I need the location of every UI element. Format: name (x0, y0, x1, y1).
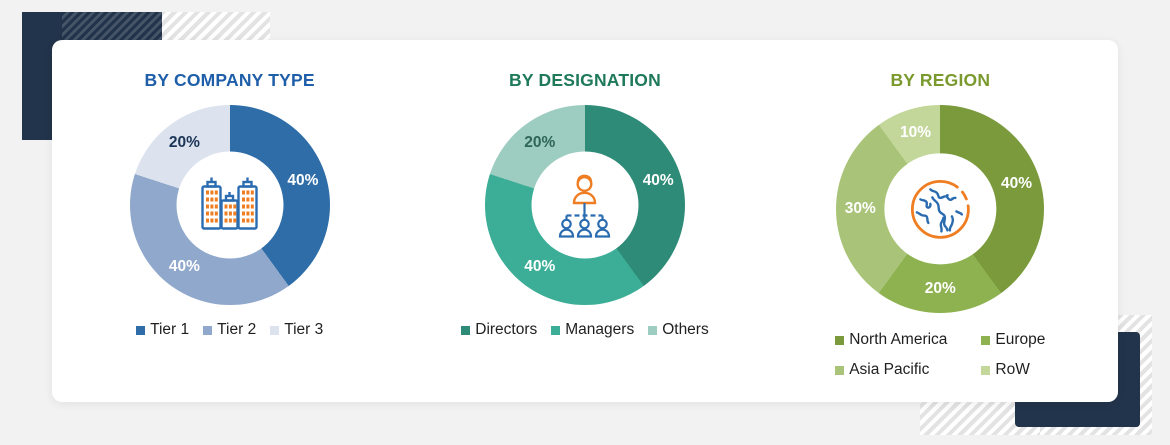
chart-panel-region: BY REGION (763, 40, 1118, 402)
legend-swatch (551, 326, 560, 335)
donut-center-hole (531, 152, 638, 259)
infographic-canvas: BY COMPANY TYPE (0, 0, 1170, 445)
donut-chart-region: 40% 20% 30% 10% (836, 105, 1044, 313)
donut-chart-company-type: 40% 40% 20% (130, 105, 330, 305)
slice-label: 10% (900, 124, 931, 142)
content-card: BY COMPANY TYPE (52, 40, 1118, 402)
legend-item[interactable]: Tier 1 (136, 321, 189, 339)
legend-region: North America Europe Asia Pacific RoW (835, 331, 1045, 379)
legend-label: North America (849, 331, 947, 349)
legend-label: Directors (475, 321, 537, 339)
legend-label: Tier 2 (217, 321, 256, 339)
panel-title-company-type: BY COMPANY TYPE (145, 70, 315, 91)
slice-label: 40% (287, 172, 318, 190)
slice-label: 20% (524, 134, 555, 152)
legend-swatch (835, 336, 844, 345)
legend-label: RoW (995, 361, 1029, 379)
legend-item[interactable]: Others (648, 321, 709, 339)
legend-company-type: Tier 1 Tier 2 Tier 3 (136, 321, 323, 339)
slice-label: 40% (169, 258, 200, 276)
legend-swatch (461, 326, 470, 335)
panel-title-designation: BY DESIGNATION (509, 70, 661, 91)
legend-item[interactable]: Tier 2 (203, 321, 256, 339)
legend-swatch (203, 326, 212, 335)
legend-label: Asia Pacific (849, 361, 929, 379)
legend-swatch (835, 366, 844, 375)
globe-icon (900, 169, 980, 249)
slice-label: 20% (925, 280, 956, 298)
legend-label: Tier 1 (150, 321, 189, 339)
chart-panel-company-type: BY COMPANY TYPE (52, 40, 407, 402)
legend-item[interactable]: Europe (981, 331, 1045, 349)
org-chart-people-icon (549, 169, 621, 241)
legend-item[interactable]: Directors (461, 321, 537, 339)
legend-label: Tier 3 (284, 321, 323, 339)
slice-label: 40% (1001, 175, 1032, 193)
slice-label: 40% (643, 172, 674, 190)
donut-center-hole (176, 152, 283, 259)
legend-item[interactable]: Tier 3 (270, 321, 323, 339)
legend-designation: Directors Managers Others (461, 321, 708, 339)
slice-label: 20% (169, 134, 200, 152)
legend-swatch (981, 336, 990, 345)
donut-center-hole (885, 153, 996, 264)
chart-panels: BY COMPANY TYPE (52, 40, 1118, 402)
donut-chart-designation: 40% 40% 20% (485, 105, 685, 305)
legend-swatch (270, 326, 279, 335)
slice-label: 40% (524, 258, 555, 276)
legend-swatch (136, 326, 145, 335)
legend-label: Others (662, 321, 709, 339)
slice-label: 30% (845, 200, 876, 218)
legend-label: Managers (565, 321, 634, 339)
legend-item[interactable]: Managers (551, 321, 634, 339)
legend-swatch (648, 326, 657, 335)
legend-item[interactable]: RoW (981, 361, 1029, 379)
legend-label: Europe (995, 331, 1045, 349)
legend-item[interactable]: Asia Pacific (835, 361, 929, 379)
legend-item[interactable]: North America (835, 331, 947, 349)
chart-panel-designation: BY DESIGNATION (407, 40, 762, 402)
office-buildings-icon (193, 168, 267, 242)
panel-title-region: BY REGION (890, 70, 990, 91)
legend-swatch (981, 366, 990, 375)
